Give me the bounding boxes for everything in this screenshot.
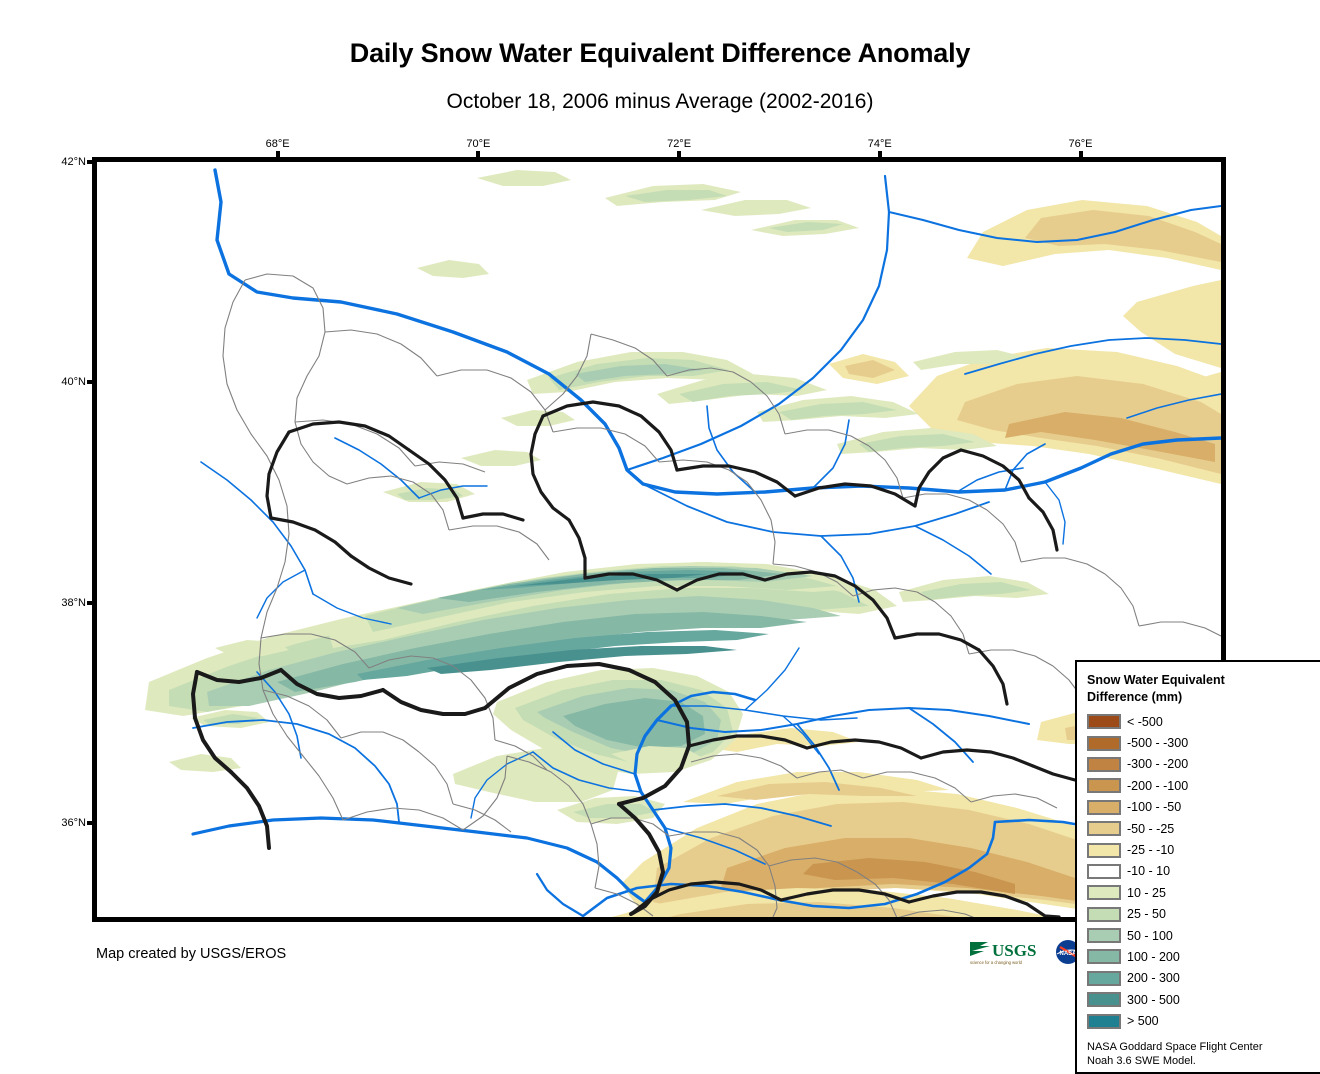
legend-swatch bbox=[1087, 949, 1121, 964]
legend-label: 50 - 100 bbox=[1127, 929, 1173, 943]
legend-source: NASA Goddard Space Flight Center Noah 3.… bbox=[1087, 1040, 1312, 1068]
legend-swatch bbox=[1087, 821, 1121, 836]
legend-label: -500 - -300 bbox=[1127, 736, 1188, 750]
legend-row: -50 - -25 bbox=[1087, 818, 1320, 839]
legend-swatch bbox=[1087, 885, 1121, 900]
legend-swatch bbox=[1087, 736, 1121, 751]
legend-row: -100 - -50 bbox=[1087, 797, 1320, 818]
lat-tick-mark bbox=[87, 821, 96, 825]
legend-label: -300 - -200 bbox=[1127, 757, 1188, 771]
legend-row: 100 - 200 bbox=[1087, 946, 1320, 967]
legend-label: -25 - -10 bbox=[1127, 843, 1174, 857]
legend-title: Snow Water Equivalent Difference (mm) bbox=[1087, 672, 1287, 706]
legend-swatch bbox=[1087, 714, 1121, 729]
legend-row: < -500 bbox=[1087, 711, 1320, 732]
page-subtitle: October 18, 2006 minus Average (2002-201… bbox=[0, 88, 1320, 116]
map-credit: Map created by USGS/EROS bbox=[96, 946, 286, 962]
lat-tick-mark bbox=[87, 601, 96, 605]
lat-tick-label: 38°N bbox=[52, 597, 86, 609]
legend-label: > 500 bbox=[1127, 1014, 1159, 1028]
map-legend: Snow Water Equivalent Difference (mm) < … bbox=[1075, 660, 1320, 1074]
legend-row: > 500 bbox=[1087, 1010, 1320, 1031]
legend-row: 300 - 500 bbox=[1087, 989, 1320, 1010]
legend-row: -10 - 10 bbox=[1087, 861, 1320, 882]
lat-tick-label: 42°N bbox=[52, 156, 86, 168]
legend-swatch bbox=[1087, 907, 1121, 922]
page-title: Daily Snow Water Equivalent Difference A… bbox=[0, 36, 1320, 70]
lon-tick-label: 74°E bbox=[868, 138, 892, 150]
legend-label: 200 - 300 bbox=[1127, 971, 1180, 985]
lon-tick-label: 70°E bbox=[466, 138, 490, 150]
legend-swatch bbox=[1087, 971, 1121, 986]
legend-swatch bbox=[1087, 928, 1121, 943]
lon-tick-label: 72°E bbox=[667, 138, 691, 150]
legend-swatch bbox=[1087, 843, 1121, 858]
legend-row: -200 - -100 bbox=[1087, 775, 1320, 796]
legend-label: -10 - 10 bbox=[1127, 864, 1170, 878]
lat-tick-mark bbox=[87, 160, 96, 164]
legend-row: 10 - 25 bbox=[1087, 882, 1320, 903]
legend-label: 10 - 25 bbox=[1127, 886, 1166, 900]
lon-tick-mark bbox=[276, 151, 280, 159]
map-frame[interactable]: Snow Water Equivalent Difference (mm) < … bbox=[92, 157, 1226, 922]
legend-label: -200 - -100 bbox=[1127, 779, 1188, 793]
title-block: Daily Snow Water Equivalent Difference A… bbox=[0, 36, 1320, 116]
svg-text:USGS: USGS bbox=[992, 941, 1036, 960]
lon-tick-mark bbox=[1079, 151, 1083, 159]
legend-swatch bbox=[1087, 992, 1121, 1007]
lon-tick-mark bbox=[677, 151, 681, 159]
lat-tick-mark bbox=[87, 380, 96, 384]
lon-tick-label: 76°E bbox=[1069, 138, 1093, 150]
legend-label: -50 - -25 bbox=[1127, 822, 1174, 836]
legend-row: 25 - 50 bbox=[1087, 904, 1320, 925]
svg-text:science for a changing world: science for a changing world bbox=[970, 960, 1023, 965]
lat-tick-label: 40°N bbox=[52, 376, 86, 388]
legend-label: 25 - 50 bbox=[1127, 907, 1166, 921]
legend-swatch bbox=[1087, 778, 1121, 793]
legend-label: -100 - -50 bbox=[1127, 800, 1181, 814]
legend-label: 100 - 200 bbox=[1127, 950, 1180, 964]
legend-source-line2: Noah 3.6 SWE Model. bbox=[1087, 1054, 1312, 1068]
legend-label: 300 - 500 bbox=[1127, 993, 1180, 1007]
legend-swatch bbox=[1087, 864, 1121, 879]
lon-tick-label: 68°E bbox=[266, 138, 290, 150]
lon-tick-mark bbox=[476, 151, 480, 159]
lon-tick-mark bbox=[878, 151, 882, 159]
legend-label: < -500 bbox=[1127, 715, 1163, 729]
map-canvas[interactable] bbox=[97, 162, 1221, 917]
legend-row: -500 - -300 bbox=[1087, 732, 1320, 753]
legend-title-line2: Difference (mm) bbox=[1087, 689, 1287, 706]
legend-swatch bbox=[1087, 1014, 1121, 1029]
legend-row: 50 - 100 bbox=[1087, 925, 1320, 946]
legend-items: < -500-500 - -300-300 - -200-200 - -100-… bbox=[1087, 711, 1320, 1032]
legend-row: 200 - 300 bbox=[1087, 968, 1320, 989]
lat-tick-label: 36°N bbox=[52, 817, 86, 829]
legend-row: -25 - -10 bbox=[1087, 839, 1320, 860]
legend-swatch bbox=[1087, 757, 1121, 772]
legend-row: -300 - -200 bbox=[1087, 754, 1320, 775]
legend-swatch bbox=[1087, 800, 1121, 815]
legend-source-line1: NASA Goddard Space Flight Center bbox=[1087, 1040, 1312, 1054]
legend-title-line1: Snow Water Equivalent bbox=[1087, 672, 1287, 689]
usgs-logo[interactable]: USGS science for a changing world bbox=[968, 937, 1046, 967]
